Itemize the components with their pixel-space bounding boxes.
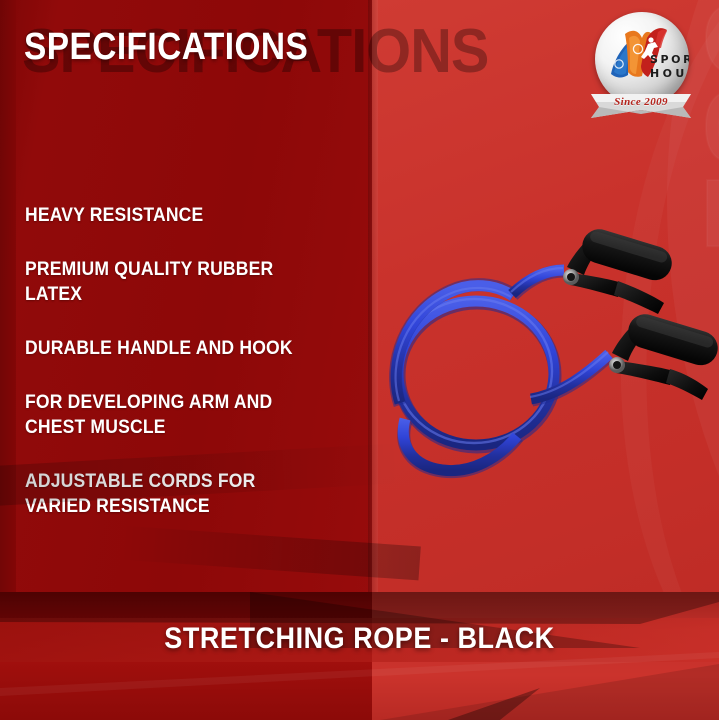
spec-item: PREMIUM QUALITY RUBBER LATEX [25, 257, 322, 307]
spec-item: DURABLE HANDLE AND HOOK [25, 336, 322, 361]
product-name: STRETCHING ROPE - BLACK [36, 622, 683, 656]
product-name-banner [0, 592, 719, 720]
logo-text-house: HOUSE [650, 67, 689, 80]
right-handle [609, 310, 719, 400]
specification-list: HEAVY RESISTANCE PREMIUM QUALITY RUBBER … [25, 203, 355, 519]
logo-ribbon-text: Since 2009 [587, 96, 695, 108]
brand-logo: SPORTS HOUSE Since 2009 [587, 12, 695, 124]
logo-text-sports: SPORTS [650, 53, 689, 66]
banner-chevron-decoration [0, 592, 719, 720]
resistance-tube-illustration [372, 215, 719, 515]
spec-item: HEAVY RESISTANCE [25, 203, 322, 228]
product-image [372, 215, 719, 515]
product-specification-poster: SPORTSHOUSE SPECIFICATIONS SPECIFICATION… [0, 0, 719, 720]
left-handle [563, 225, 676, 314]
spec-item: FOR DEVELOPING ARM AND CHEST MUSCLE [25, 390, 322, 440]
page-title: SPECIFICATIONS [24, 26, 308, 69]
spec-item: ADJUSTABLE CORDS FOR VARIED RESISTANCE [25, 469, 322, 519]
